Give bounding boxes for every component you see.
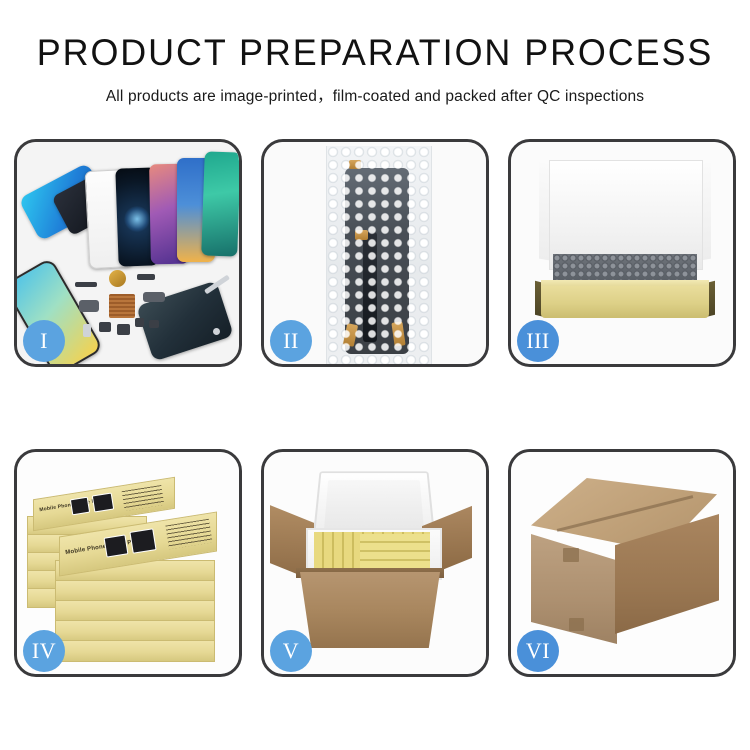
step-panel-2[interactable]: II	[261, 139, 489, 367]
speaker-module	[117, 324, 130, 335]
stacked-box-f-4	[55, 620, 215, 642]
step-badge-4: IV	[23, 630, 65, 672]
green-display-screen	[201, 151, 239, 256]
vibration-motor	[135, 318, 144, 327]
step-panel-4[interactable]: Mobile Phone Spare Parts Mobile Phone Sp…	[14, 449, 242, 677]
yellow-boxes-row-2	[360, 534, 430, 568]
battery-connector	[75, 282, 97, 287]
process-steps-grid: I II	[14, 139, 736, 677]
carton-tab-lower	[569, 618, 584, 631]
step-2-image: II	[264, 142, 486, 364]
step-badge-1: I	[23, 320, 65, 362]
bubble-wrap-bag	[326, 146, 432, 364]
button-part	[149, 320, 159, 328]
box-print-screen-back-2	[92, 493, 114, 513]
gold-component	[109, 270, 126, 287]
logic-board-chip	[109, 294, 135, 318]
flex-cable-2	[143, 292, 165, 302]
small-connector	[137, 274, 155, 280]
box-print-screen-front-1	[104, 534, 129, 557]
yellow-box-front	[541, 286, 709, 318]
step-badge-3: III	[517, 320, 559, 362]
camera-module	[99, 322, 111, 332]
tape-piece-middle	[355, 230, 368, 240]
step-1-image: I	[17, 142, 239, 364]
step-badge-5: V	[270, 630, 312, 672]
sim-tray	[83, 324, 91, 337]
flex-cable-1	[79, 300, 99, 312]
box-print-screen-back-1	[70, 497, 90, 516]
wrapped-flex-cable	[363, 232, 377, 342]
page-header: PRODUCT PREPARATION PROCESS All products…	[0, 0, 750, 106]
step-badge-2: II	[270, 320, 312, 362]
step-panel-1[interactable]: I	[14, 139, 242, 367]
screw-part	[213, 328, 220, 335]
step-panel-5[interactable]: V	[261, 449, 489, 677]
step-panel-6[interactable]: VI	[508, 449, 736, 677]
box-print-screen-front-2	[129, 528, 156, 553]
step-5-image: V	[264, 452, 486, 674]
step-6-image: VI	[511, 452, 733, 674]
page-title: PRODUCT PREPARATION PROCESS	[11, 34, 739, 73]
step-panel-3[interactable]: III	[508, 139, 736, 367]
stacked-box-f-5	[55, 640, 215, 662]
step-4-image: Mobile Phone Spare Parts Mobile Phone Sp…	[17, 452, 239, 674]
tape-piece-top	[349, 160, 361, 169]
step-3-image: III	[511, 142, 733, 364]
stacked-box-f-3	[55, 600, 215, 622]
page-subtitle: All products are image-printed，film-coat…	[0, 84, 750, 106]
carton-tab-upper	[563, 548, 579, 562]
stacked-box-f-2	[55, 580, 215, 602]
carton-front	[300, 572, 440, 648]
step-badge-6: VI	[517, 630, 559, 672]
